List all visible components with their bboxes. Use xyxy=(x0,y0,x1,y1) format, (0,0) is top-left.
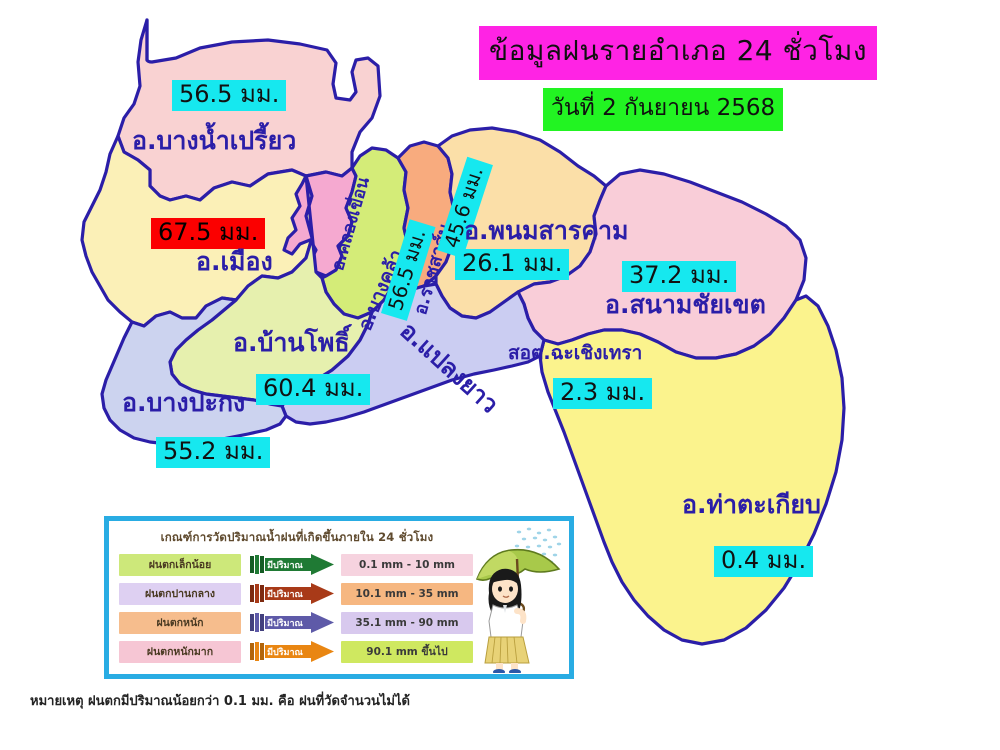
legend-category: ฝนตกหนัก xyxy=(119,612,241,634)
legend-arrow-icon: มีปริมาณ xyxy=(249,553,335,576)
legend-range: 0.1 mm - 10 mm xyxy=(341,554,473,576)
station-label-chachoengsao[interactable]: สอต.ฉะเชิงเทรา xyxy=(508,344,642,364)
district-label-sanam-chai-khet[interactable]: อ.สนามชัยเขต xyxy=(605,292,766,318)
page-title: ข้อมูลฝนรายอำเภอ 24 ชั่วโมง xyxy=(479,26,877,80)
district-label-tha-takiap[interactable]: อ.ท่าตะเกียบ xyxy=(682,492,821,518)
legend-category: ฝนตกเล็กน้อย xyxy=(119,554,241,576)
svg-text:มีปริมาณ: มีปริมาณ xyxy=(267,647,304,658)
value-sanam-chai-khet: 37.2 มม. xyxy=(622,261,736,292)
legend-range: 35.1 mm - 90 mm xyxy=(341,612,473,634)
value-phanom-sarakham: 26.1 มม. xyxy=(455,249,569,280)
girl-with-umbrella-icon xyxy=(469,525,565,673)
legend-category: ฝนตกปานกลาง xyxy=(119,583,241,605)
value-tha-takiap: 0.4 มม. xyxy=(714,546,813,577)
district-label-ban-pho[interactable]: อ.บ้านโพธิ์ xyxy=(233,330,350,356)
value-station-chachoengsao: 2.3 มม. xyxy=(553,378,652,409)
district-label-bang-pakong[interactable]: อ.บางปะกง xyxy=(122,390,245,416)
value-bang-nam-priao: 56.5 มม. xyxy=(172,80,286,111)
svg-text:มีปริมาณ: มีปริมาณ xyxy=(267,560,304,571)
report-date: วันที่ 2 กันยายน 2568 xyxy=(543,88,783,131)
district-label-bang-nam-priao[interactable]: อ.บางน้ำเปรี้ยว xyxy=(132,128,296,154)
legend-category: ฝนตกหนักมาก xyxy=(119,641,241,663)
value-bang-pakong: 55.2 มม. xyxy=(156,437,270,468)
legend-arrow-icon: มีปริมาณ xyxy=(249,640,335,663)
legend-arrow-icon: มีปริมาณ xyxy=(249,611,335,634)
rainfall-map-page: ข้อมูลฝนรายอำเภอ 24 ชั่วโมง วันที่ 2 กัน… xyxy=(0,0,1000,750)
svg-text:มีปริมาณ: มีปริมาณ xyxy=(267,618,304,629)
legend-range: 90.1 mm ขึ้นไป xyxy=(341,641,473,663)
rainfall-legend: เกณฑ์การวัดปริมาณน้ำฝนที่เกิดขึ้นภายใน 2… xyxy=(104,516,574,679)
legend-range: 10.1 mm - 35 mm xyxy=(341,583,473,605)
value-mueang: 67.5 มม. xyxy=(151,218,265,249)
svg-text:มีปริมาณ: มีปริมาณ xyxy=(267,589,304,600)
value-ban-pho: 60.4 มม. xyxy=(256,374,370,405)
district-label-mueang[interactable]: อ.เมือง xyxy=(196,249,273,275)
district-label-phanom-sarakham[interactable]: อ.พนมสารคาม xyxy=(464,218,629,244)
footnote: หมายเหตุ ฝนตกมีปริมาณน้อยกว่า 0.1 มม. คื… xyxy=(30,690,410,711)
legend-arrow-icon: มีปริมาณ xyxy=(249,582,335,605)
